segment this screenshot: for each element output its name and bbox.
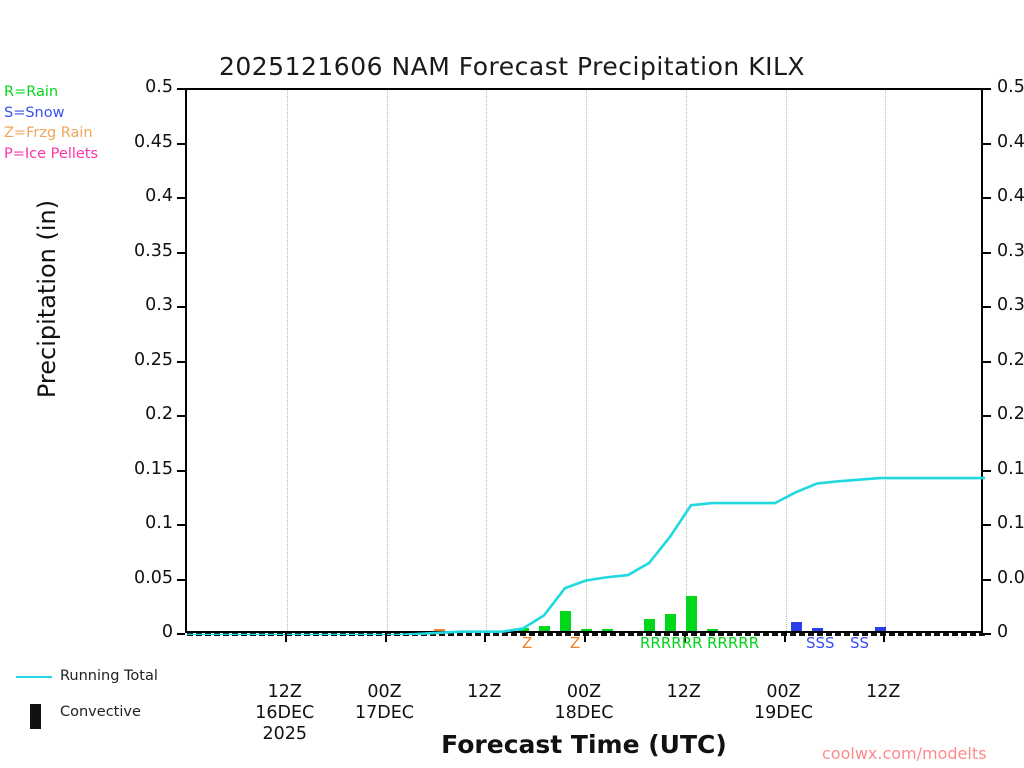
- y-tick-mark-right: [983, 470, 991, 472]
- y-tick-mark: [177, 524, 185, 526]
- legend-label-running-total: Running Total: [60, 668, 158, 684]
- x-tick-mark: [584, 633, 586, 642]
- x-tick-label: 12Z: [823, 682, 943, 703]
- precip-type-marker: RRRRR: [707, 634, 759, 652]
- x-tick-mark: [784, 633, 786, 642]
- y-tick-mark-right: [983, 197, 991, 199]
- x-tick-time: 12Z: [823, 682, 943, 703]
- y-tick-mark: [177, 415, 185, 417]
- y-tick-label: 0.1: [89, 513, 173, 533]
- y-tick-label: 0.5: [89, 77, 173, 97]
- y-tick-mark: [177, 470, 185, 472]
- x-tick-mark: [883, 633, 885, 642]
- y-tick-label-right: 0.4: [997, 186, 1024, 206]
- y-tick-mark-right: [983, 579, 991, 581]
- y-tick-mark-right: [983, 524, 991, 526]
- legend-item-snow: S=Snow: [4, 103, 179, 124]
- plot-area: [185, 88, 983, 633]
- y-tick-mark: [177, 306, 185, 308]
- x-tick-mark: [285, 633, 287, 642]
- y-tick-label-right: 0.05: [997, 568, 1024, 588]
- y-tick-label-right: 0.45: [997, 132, 1024, 152]
- y-tick-mark-right: [983, 361, 991, 363]
- y-tick-label-right: 0.2: [997, 404, 1024, 424]
- y-axis-title: Precipitation (in): [33, 134, 61, 464]
- y-tick-label-right: 0.35: [997, 241, 1024, 261]
- y-tick-mark: [177, 143, 185, 145]
- legend-label-convective: Convective: [60, 704, 141, 720]
- y-tick-label-right: 0.15: [997, 459, 1024, 479]
- y-tick-label: 0.2: [89, 404, 173, 424]
- chart-page: 2025121606 NAM Forecast Precipitation KI…: [0, 0, 1024, 768]
- y-tick-mark-right: [983, 415, 991, 417]
- y-tick-mark-right: [983, 306, 991, 308]
- precip-type-marker: SSS: [806, 634, 835, 652]
- y-tick-mark-right: [983, 143, 991, 145]
- y-tick-mark: [177, 252, 185, 254]
- y-tick-label: 0.15: [89, 459, 173, 479]
- legend-running-total: Running Total: [12, 668, 192, 704]
- x-tick-date: 17DEC: [325, 703, 445, 724]
- y-tick-mark: [177, 579, 185, 581]
- series-legend: Running Total Convective: [12, 668, 192, 740]
- y-tick-label: 0.05: [89, 568, 173, 588]
- y-tick-mark-right: [983, 88, 991, 90]
- y-tick-label-right: 0: [997, 622, 1008, 642]
- y-tick-label: 0: [89, 622, 173, 642]
- y-tick-mark: [177, 88, 185, 90]
- x-tick-year: 2025: [225, 724, 345, 745]
- x-tick-mark: [385, 633, 387, 642]
- watermark: coolwx.com/modelts: [822, 744, 986, 763]
- x-tick-mark: [484, 633, 486, 642]
- y-tick-mark: [177, 633, 185, 635]
- precip-type-marker: RRRRRR: [640, 634, 703, 652]
- x-tick-date: 19DEC: [724, 703, 844, 724]
- x-tick-date: 18DEC: [524, 703, 644, 724]
- y-tick-mark-right: [983, 252, 991, 254]
- y-tick-label: 0.45: [89, 132, 173, 152]
- y-tick-label: 0.25: [89, 350, 173, 370]
- legend-convective: Convective: [12, 704, 192, 740]
- line-swatch-icon: [16, 676, 52, 678]
- precip-type-marker: SS: [850, 634, 869, 652]
- y-tick-label-right: 0.5: [997, 77, 1024, 97]
- y-tick-mark-right: [983, 633, 991, 635]
- y-tick-label: 0.35: [89, 241, 173, 261]
- y-tick-label-right: 0.1: [997, 513, 1024, 533]
- bar-swatch-icon: [30, 704, 41, 729]
- y-tick-label: 0.4: [89, 186, 173, 206]
- y-tick-mark: [177, 197, 185, 199]
- y-tick-label: 0.3: [89, 295, 173, 315]
- running-total-line: [187, 90, 985, 635]
- precip-type-marker: Z: [522, 634, 532, 652]
- precip-type-marker: Z: [570, 634, 580, 652]
- y-tick-mark: [177, 361, 185, 363]
- y-tick-label-right: 0.3: [997, 295, 1024, 315]
- y-tick-label-right: 0.25: [997, 350, 1024, 370]
